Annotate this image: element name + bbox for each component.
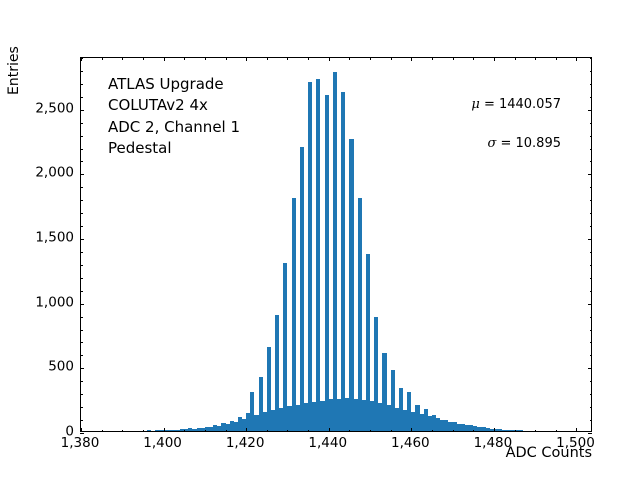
y-axis-minor-tick bbox=[80, 84, 83, 85]
y-axis-tick bbox=[588, 110, 592, 111]
x-axis-minor-tick bbox=[205, 430, 206, 433]
y-axis-minor-tick bbox=[590, 71, 593, 72]
y-axis-minor-tick bbox=[590, 149, 593, 150]
x-axis-tick-label: 1,440 bbox=[308, 437, 347, 451]
y-axis-tick-label: 0 bbox=[74, 425, 83, 439]
x-axis-minor-tick bbox=[515, 430, 516, 433]
x-axis-tick bbox=[576, 428, 577, 432]
y-axis-minor-tick bbox=[590, 394, 593, 395]
y-axis-tick bbox=[588, 239, 592, 240]
y-axis-minor-tick bbox=[80, 187, 83, 188]
x-axis-minor-tick bbox=[473, 57, 474, 60]
x-axis-minor-tick bbox=[370, 430, 371, 433]
y-axis-minor-tick bbox=[590, 265, 593, 266]
y-axis-minor-tick bbox=[590, 330, 593, 331]
histogram-bar bbox=[341, 92, 345, 431]
x-axis-minor-tick bbox=[143, 430, 144, 433]
y-axis-minor-tick bbox=[590, 252, 593, 253]
x-axis-minor-tick bbox=[453, 57, 454, 60]
y-axis-tick-label: 2,000 bbox=[74, 167, 113, 181]
histogram-bar bbox=[349, 139, 353, 431]
y-axis-minor-tick bbox=[80, 123, 83, 124]
x-axis-tick bbox=[246, 428, 247, 432]
x-axis-minor-tick bbox=[473, 430, 474, 433]
y-axis-tick bbox=[588, 433, 592, 434]
y-axis-tick bbox=[588, 304, 592, 305]
y-axis-minor-tick bbox=[80, 420, 83, 421]
stat-value: = 1440.057 bbox=[480, 97, 561, 112]
x-axis-tick-label: 1,500 bbox=[556, 437, 595, 451]
y-axis-minor-tick bbox=[590, 161, 593, 162]
x-axis-tick bbox=[246, 57, 247, 61]
y-axis-minor-tick bbox=[80, 226, 83, 227]
y-axis-title: Entries bbox=[6, 46, 22, 95]
y-axis-minor-tick bbox=[80, 161, 83, 162]
y-axis-minor-tick bbox=[80, 213, 83, 214]
histogram-bar bbox=[325, 95, 329, 431]
x-axis-tick-label: 1,460 bbox=[391, 437, 430, 451]
y-axis-minor-tick bbox=[80, 200, 83, 201]
x-axis-tick bbox=[329, 57, 330, 61]
histogram-bar bbox=[308, 82, 312, 431]
x-axis-minor-tick bbox=[391, 57, 392, 60]
x-axis-minor-tick bbox=[226, 430, 227, 433]
x-axis-minor-tick bbox=[287, 57, 288, 60]
stat-symbol: σ bbox=[487, 136, 496, 151]
x-axis-minor-tick bbox=[287, 430, 288, 433]
y-axis-minor-tick bbox=[590, 84, 593, 85]
x-axis-tick bbox=[164, 57, 165, 61]
x-axis-minor-tick bbox=[184, 430, 185, 433]
x-axis-minor-tick bbox=[267, 430, 268, 433]
y-axis-minor-tick bbox=[590, 200, 593, 201]
x-axis-minor-tick bbox=[370, 57, 371, 60]
x-axis-tick-label: 1,480 bbox=[474, 437, 513, 451]
x-axis-minor-tick bbox=[432, 430, 433, 433]
y-axis-minor-tick bbox=[590, 97, 593, 98]
x-axis-minor-tick bbox=[267, 57, 268, 60]
y-axis-minor-tick bbox=[80, 71, 83, 72]
stat-symbol: μ bbox=[471, 97, 479, 112]
y-axis-minor-tick bbox=[80, 149, 83, 150]
y-axis-minor-tick bbox=[590, 355, 593, 356]
plot-annotation-stats: μ = 1440.057σ = 10.895 bbox=[471, 98, 561, 150]
x-axis-tick bbox=[411, 57, 412, 61]
y-axis-minor-tick bbox=[80, 278, 83, 279]
histogram-bar bbox=[527, 431, 531, 432]
stat-annotation: σ = 10.895 bbox=[471, 137, 561, 150]
x-axis-minor-tick bbox=[391, 430, 392, 433]
y-axis-minor-tick bbox=[590, 407, 593, 408]
annotation-line: COLUTAv2 4x bbox=[108, 95, 240, 116]
x-axis-minor-tick bbox=[308, 430, 309, 433]
y-axis-minor-tick bbox=[590, 213, 593, 214]
y-axis-minor-tick bbox=[590, 123, 593, 124]
x-axis-minor-tick bbox=[556, 57, 557, 60]
y-axis-minor-tick bbox=[80, 97, 83, 98]
x-axis-minor-tick bbox=[349, 430, 350, 433]
y-axis-minor-tick bbox=[590, 187, 593, 188]
y-axis-minor-tick bbox=[80, 58, 83, 59]
plot-area: ATLAS UpgradeCOLUTAv2 4xADC 2, Channel 1… bbox=[80, 57, 592, 432]
y-axis-tick bbox=[588, 174, 592, 175]
x-axis-minor-tick bbox=[349, 57, 350, 60]
histogram-bar bbox=[292, 198, 296, 431]
y-axis-minor-tick bbox=[80, 407, 83, 408]
stat-annotation: μ = 1440.057 bbox=[471, 98, 561, 111]
histogram-bar bbox=[300, 147, 304, 431]
x-axis-tick bbox=[164, 428, 165, 432]
histogram-bar bbox=[333, 72, 337, 431]
x-axis-minor-tick bbox=[453, 430, 454, 433]
x-axis-tick bbox=[576, 57, 577, 61]
x-axis-minor-tick bbox=[515, 57, 516, 60]
y-axis-minor-tick bbox=[590, 136, 593, 137]
y-axis-minor-tick bbox=[80, 291, 83, 292]
x-axis-tick bbox=[411, 428, 412, 432]
y-axis-minor-tick bbox=[590, 278, 593, 279]
plot-annotation-title: ATLAS UpgradeCOLUTAv2 4xADC 2, Channel 1… bbox=[108, 74, 240, 159]
x-axis-minor-tick bbox=[205, 57, 206, 60]
y-axis-minor-tick bbox=[80, 265, 83, 266]
x-axis-minor-tick bbox=[556, 430, 557, 433]
y-axis-minor-tick bbox=[590, 381, 593, 382]
x-axis-minor-tick bbox=[432, 57, 433, 60]
x-axis-tick bbox=[329, 428, 330, 432]
y-axis-minor-tick bbox=[80, 394, 83, 395]
y-axis-minor-tick bbox=[80, 381, 83, 382]
y-axis-tick-label: 1,500 bbox=[74, 231, 113, 245]
x-axis-minor-tick bbox=[122, 57, 123, 60]
y-axis-minor-tick bbox=[80, 355, 83, 356]
y-axis-tick-label: 1,000 bbox=[74, 296, 113, 310]
x-axis-minor-tick bbox=[226, 57, 227, 60]
annotation-line: ATLAS Upgrade bbox=[108, 74, 240, 95]
y-axis-minor-tick bbox=[80, 252, 83, 253]
y-axis-minor-tick bbox=[80, 317, 83, 318]
x-axis-minor-tick bbox=[184, 57, 185, 60]
y-axis-minor-tick bbox=[80, 136, 83, 137]
x-axis-minor-tick bbox=[308, 57, 309, 60]
x-axis-tick-label: 1,400 bbox=[143, 437, 182, 451]
histogram-figure: Entries ADC Counts ATLAS UpgradeCOLUTAv2… bbox=[0, 0, 640, 480]
x-axis-minor-tick bbox=[535, 57, 536, 60]
y-axis-minor-tick bbox=[590, 420, 593, 421]
x-axis-minor-tick bbox=[102, 57, 103, 60]
x-axis-minor-tick bbox=[102, 430, 103, 433]
y-axis-tick-label: 500 bbox=[74, 361, 100, 375]
stat-value: = 10.895 bbox=[496, 136, 561, 151]
y-axis-minor-tick bbox=[80, 330, 83, 331]
annotation-line: ADC 2, Channel 1 bbox=[108, 117, 240, 138]
y-axis-minor-tick bbox=[590, 342, 593, 343]
y-axis-minor-tick bbox=[590, 317, 593, 318]
y-axis-minor-tick bbox=[590, 58, 593, 59]
y-axis-minor-tick bbox=[590, 291, 593, 292]
histogram-bar bbox=[316, 79, 320, 431]
x-axis-tick-label: 1,420 bbox=[226, 437, 265, 451]
x-axis-minor-tick bbox=[122, 430, 123, 433]
y-axis-tick bbox=[588, 368, 592, 369]
x-axis-tick bbox=[494, 57, 495, 61]
x-axis-minor-tick bbox=[143, 57, 144, 60]
histogram-bar bbox=[358, 198, 362, 431]
x-axis-tick bbox=[494, 428, 495, 432]
y-axis-minor-tick bbox=[590, 226, 593, 227]
y-axis-minor-tick bbox=[80, 342, 83, 343]
annotation-line: Pedestal bbox=[108, 138, 240, 159]
y-axis-tick-label: 2,500 bbox=[74, 102, 113, 116]
x-axis-minor-tick bbox=[535, 430, 536, 433]
